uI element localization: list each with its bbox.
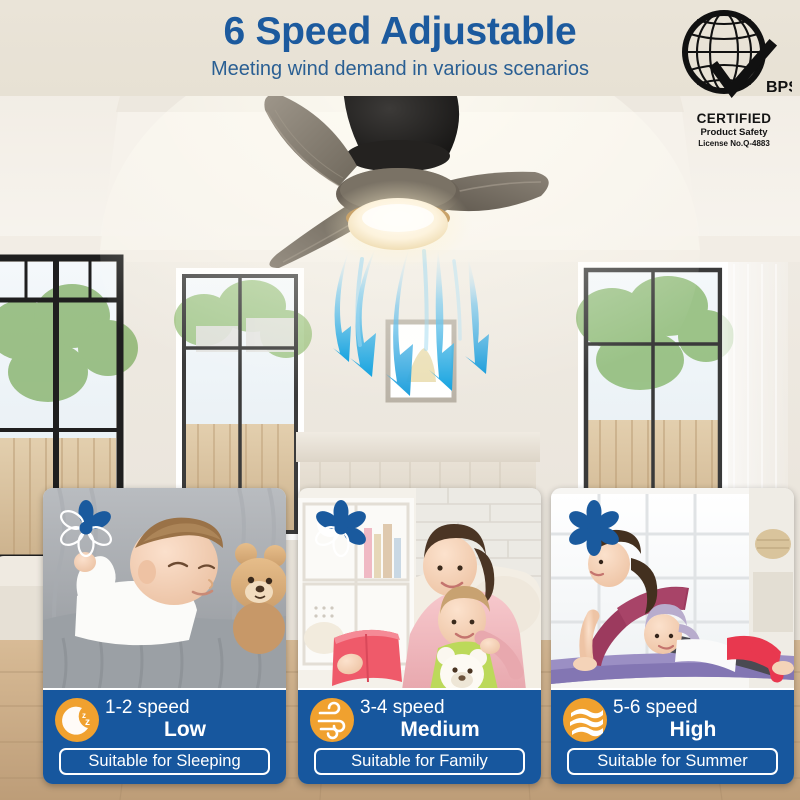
cert-certified-label: CERTIFIED xyxy=(676,112,792,127)
speed-scenario-cards: z z 1-2 speed Low Suitable for Sleeping xyxy=(0,488,800,788)
speed-level-low: Low xyxy=(105,718,265,742)
product-infographic: 6 Speed Adjustable Meeting wind demand i… xyxy=(0,0,800,800)
speed-label-high: 5-6 speed High Suitable for Summer xyxy=(551,688,794,784)
speed-card-low[interactable]: z z 1-2 speed Low Suitable for Sleeping xyxy=(43,488,286,784)
speed-range-medium: 3-4 speed xyxy=(360,697,535,719)
svg-text:BPS: BPS xyxy=(766,79,792,96)
suitability-medium: Suitable for Family xyxy=(314,748,525,775)
wind-breeze-icon xyxy=(310,698,354,742)
ceiling-fan-3-blade-icon xyxy=(235,78,565,273)
fan-speed-petals-icon xyxy=(563,500,625,558)
speed-level-high: High xyxy=(613,718,773,742)
cert-product-safety-label: Product Safety xyxy=(676,127,792,139)
certification-badge: BPS CERTIFIED Product Safety License No.… xyxy=(676,6,792,149)
speed-level-medium: Medium xyxy=(360,718,520,742)
speed-card-medium[interactable]: 3-4 speed Medium Suitable for Family xyxy=(298,488,541,784)
downward-airflow-arrows-icon xyxy=(318,245,508,445)
moon-sleep-icon: z z xyxy=(55,698,99,742)
strong-wind-waves-icon xyxy=(563,698,607,742)
fan-speed-petals-icon xyxy=(55,500,117,558)
svg-text:z: z xyxy=(85,717,90,728)
cert-license-label: License No.Q-4883 xyxy=(676,139,792,149)
suitability-low: Suitable for Sleeping xyxy=(59,748,270,775)
speed-card-high[interactable]: 5-6 speed High Suitable for Summer xyxy=(551,488,794,784)
speed-label-medium: 3-4 speed Medium Suitable for Family xyxy=(298,688,541,784)
fan-speed-petals-icon xyxy=(310,500,372,558)
speed-range-low: 1-2 speed xyxy=(105,697,280,719)
speed-label-low: z z 1-2 speed Low Suitable for Sleeping xyxy=(43,688,286,784)
speed-range-high: 5-6 speed xyxy=(613,697,788,719)
suitability-high: Suitable for Summer xyxy=(567,748,778,775)
globe-check-bps-icon: BPS xyxy=(676,6,792,112)
